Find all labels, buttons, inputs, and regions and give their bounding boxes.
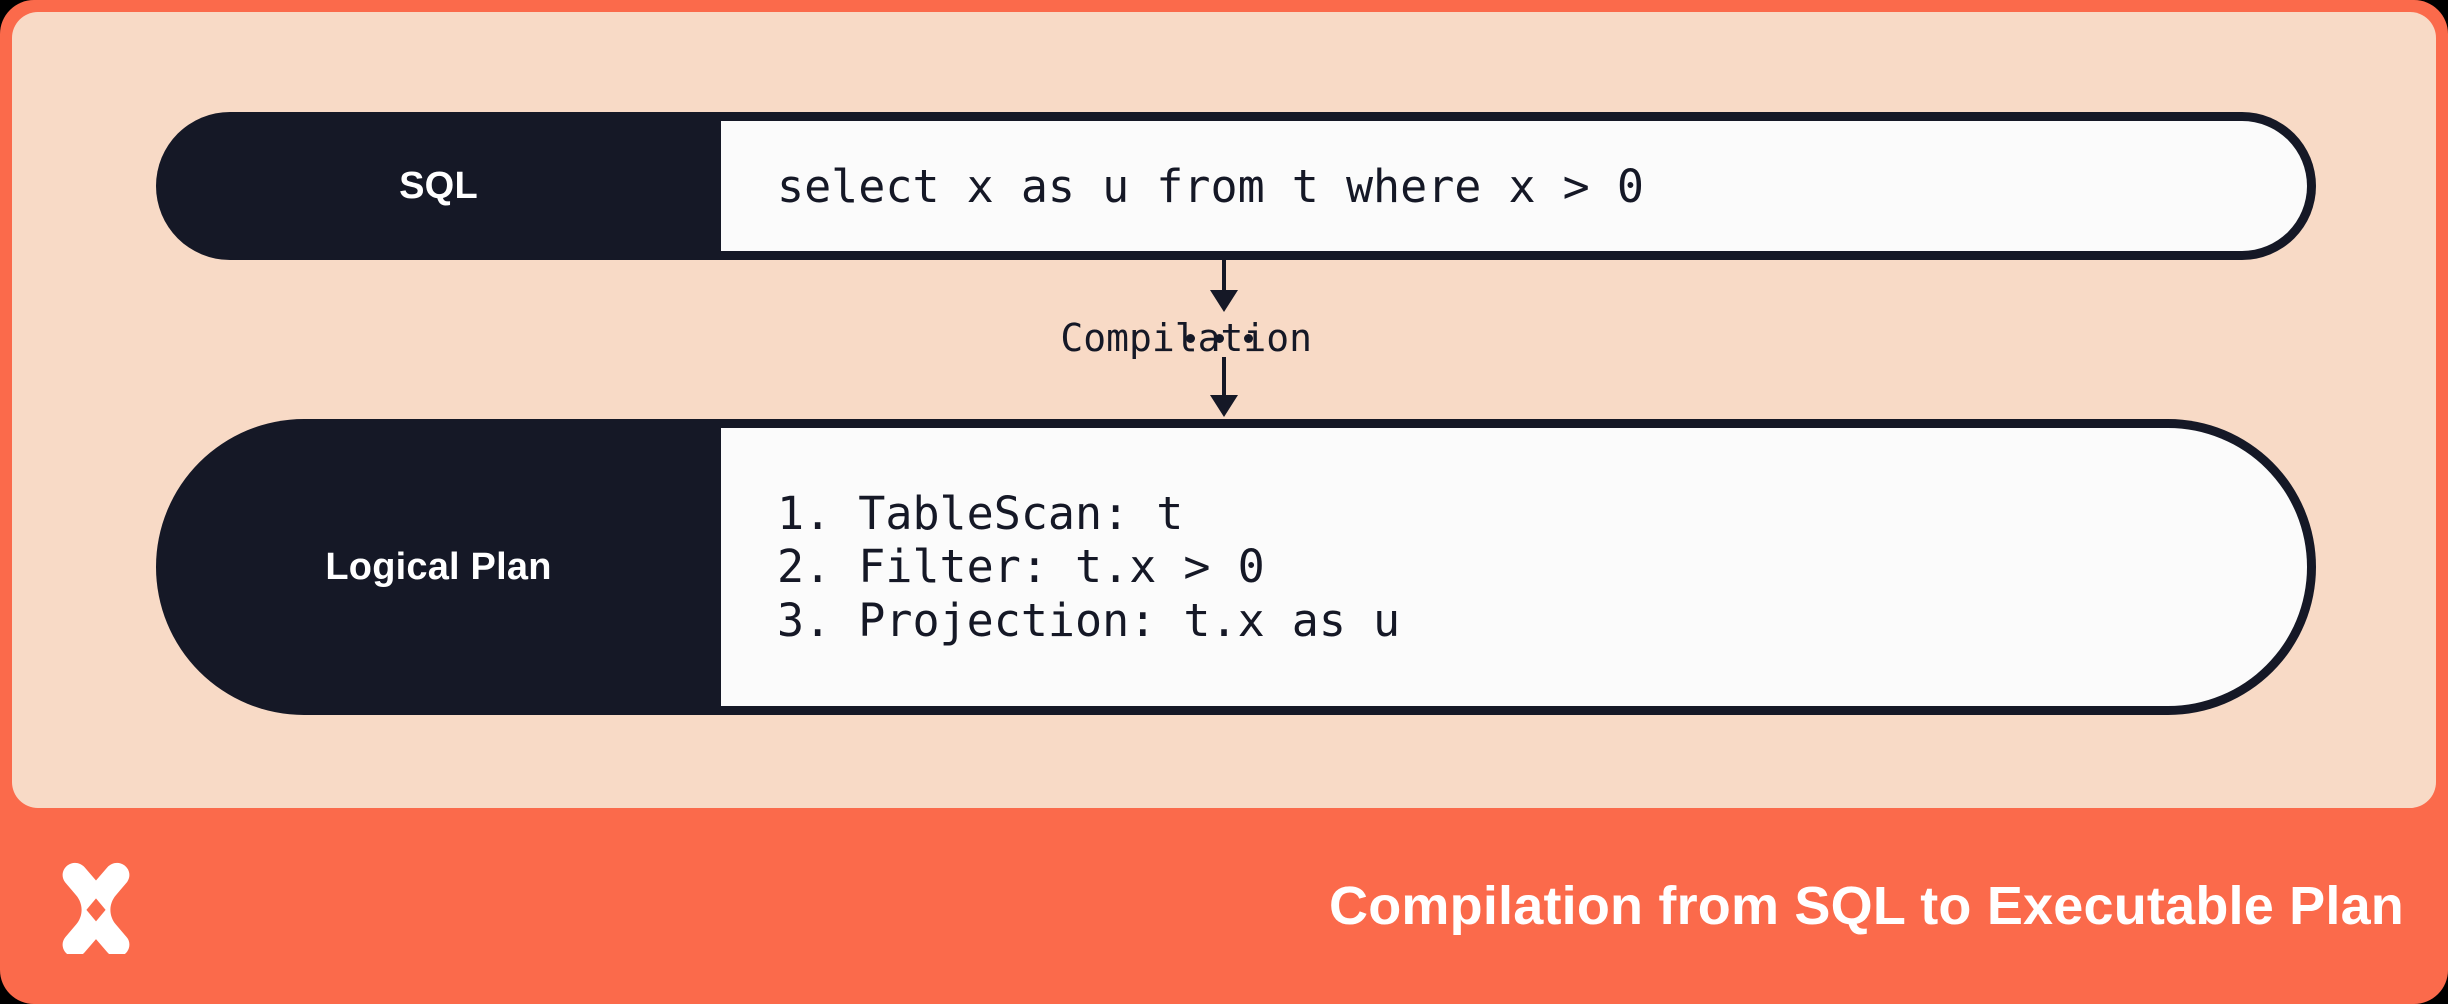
figure-root: SQL select x as u from t where x > 0 Com…	[0, 0, 2448, 1004]
footer-banner: Compilation from SQL to Executable Plan	[0, 808, 2448, 1004]
plan-step-2: 2. Filter: t.x > 0	[777, 540, 2307, 593]
dot-1	[1186, 334, 1195, 343]
compilation-flow: Compilation	[1162, 260, 1562, 419]
plan-step-1: 1. TableScan: t	[777, 487, 2307, 540]
logical-plan-row: Logical Plan 1. TableScan: t 2. Filter: …	[156, 419, 2316, 715]
logical-plan-row-content: 1. TableScan: t 2. Filter: t.x > 0 3. Pr…	[721, 428, 2307, 706]
sql-statement: select x as u from t where x > 0	[777, 164, 2307, 209]
sql-row-content: select x as u from t where x > 0	[721, 121, 2307, 251]
plan-step-3: 3. Projection: t.x as u	[777, 594, 2307, 647]
arrow-stem	[1222, 357, 1226, 397]
arrow-head	[1210, 290, 1238, 312]
arrow-stem	[1222, 260, 1226, 292]
four-pointed-star-logo-icon	[48, 858, 144, 954]
banner-title: Compilation from SQL to Executable Plan	[1329, 875, 2404, 937]
dot-3	[1244, 334, 1253, 343]
ellipsis-dots-icon	[1186, 334, 1253, 343]
sql-row: SQL select x as u from t where x > 0	[156, 112, 2316, 260]
arrow-head	[1210, 395, 1238, 417]
dot-2	[1215, 334, 1224, 343]
logical-plan-row-label: Logical Plan	[156, 419, 721, 715]
sql-row-label: SQL	[156, 112, 721, 260]
diagram-stage: SQL select x as u from t where x > 0 Com…	[12, 12, 2436, 808]
